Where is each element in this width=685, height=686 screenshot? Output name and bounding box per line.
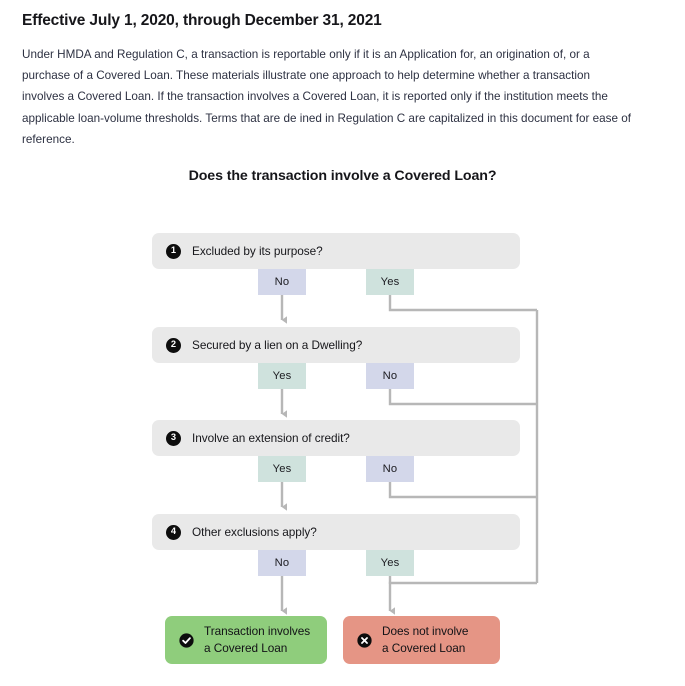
step-4-number: 4	[166, 525, 181, 540]
check-circle-icon	[179, 633, 194, 648]
step-2-question-bar[interactable]: 2 Secured by a lien on a Dwelling?	[152, 327, 520, 363]
outcome-not-covered-loan-line2: a Covered Loan	[382, 640, 468, 657]
step-4-question-bar[interactable]: 4 Other exclusions apply?	[152, 514, 520, 550]
step-4-label: Other exclusions apply?	[192, 525, 317, 539]
connector-step1-yes	[390, 295, 537, 310]
connector-step3-no	[390, 482, 537, 497]
step-3-answer-yes[interactable]: Yes	[258, 456, 306, 482]
step-3-label: Involve an extension of credit?	[192, 431, 350, 445]
step-4-answer-no[interactable]: No	[258, 550, 306, 576]
connector-bus-to-negative	[390, 583, 537, 611]
outcome-not-covered-loan[interactable]: Does not involve a Covered Loan	[343, 616, 500, 664]
step-1-answer-yes[interactable]: Yes	[366, 269, 414, 295]
outcome-covered-loan-line1: Transaction involves	[204, 623, 310, 640]
step-3-number: 3	[166, 431, 181, 446]
outcome-covered-loan[interactable]: Transaction involves a Covered Loan	[165, 616, 327, 664]
outcome-not-covered-loan-text: Does not involve a Covered Loan	[382, 623, 468, 657]
outcome-covered-loan-line2: a Covered Loan	[204, 640, 310, 657]
step-1-label: Excluded by its purpose?	[192, 244, 323, 258]
step-2-answer-yes[interactable]: Yes	[258, 363, 306, 389]
step-3-answer-no[interactable]: No	[366, 456, 414, 482]
flowchart: 1 Excluded by its purpose? No Yes 2 Secu…	[0, 0, 685, 686]
x-circle-icon	[357, 633, 372, 648]
outcome-covered-loan-text: Transaction involves a Covered Loan	[204, 623, 310, 657]
step-4-answer-yes[interactable]: Yes	[366, 550, 414, 576]
step-2-answer-no[interactable]: No	[366, 363, 414, 389]
step-3-question-bar[interactable]: 3 Involve an extension of credit?	[152, 420, 520, 456]
step-2-number: 2	[166, 338, 181, 353]
step-1-answer-no[interactable]: No	[258, 269, 306, 295]
step-1-number: 1	[166, 244, 181, 259]
connector-step2-no	[390, 389, 537, 404]
step-2-label: Secured by a lien on a Dwelling?	[192, 338, 362, 352]
step-1-question-bar[interactable]: 1 Excluded by its purpose?	[152, 233, 520, 269]
outcome-not-covered-loan-line1: Does not involve	[382, 623, 468, 640]
